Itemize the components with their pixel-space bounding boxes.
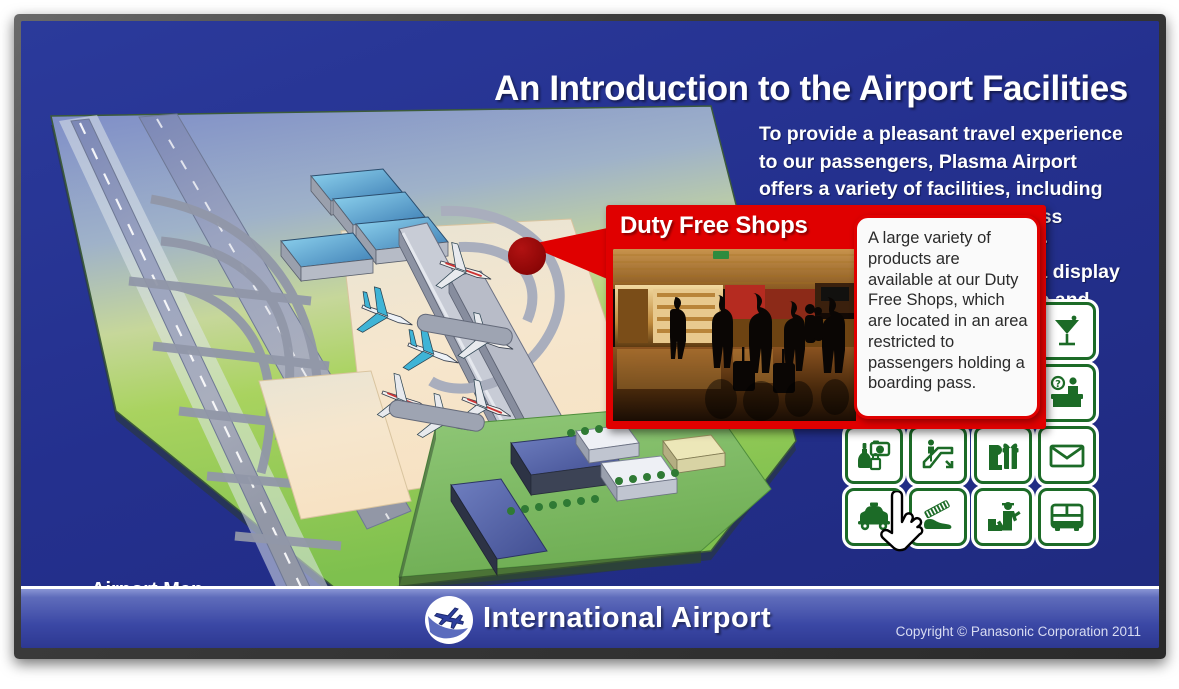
duty-free-popup[interactable]: Duty Free Shops — [606, 205, 1046, 429]
footer-copyright: Copyright © Panasonic Corporation 2011 — [896, 624, 1141, 639]
popup-caption: A large variety of products are availabl… — [854, 215, 1040, 419]
display-bezel: An Introduction to the Airport Facilitie… — [14, 14, 1166, 659]
footer-bar: International Airport Copyright © Panaso… — [21, 586, 1159, 648]
page-title: An Introduction to the Airport Facilitie… — [491, 69, 1131, 109]
immigration-icon[interactable] — [974, 488, 1032, 546]
footer-brand: International Airport — [483, 602, 771, 635]
post-office-icon[interactable] — [1038, 426, 1096, 484]
gift-shop-icon[interactable] — [974, 426, 1032, 484]
escalator-icon[interactable] — [909, 426, 967, 484]
svg-text:?: ? — [1055, 379, 1061, 390]
cocktail-bar-icon[interactable] — [1038, 302, 1096, 360]
popup-title: Duty Free Shops — [620, 212, 808, 240]
duty-free-photo — [613, 249, 856, 421]
information-desk-icon[interactable]: ? — [1038, 364, 1096, 422]
duty-free-location-marker[interactable] — [508, 237, 546, 275]
pointing-hand-cursor — [878, 491, 930, 557]
airport-logo-icon — [421, 594, 477, 646]
duty-free-shop-icon[interactable] — [845, 426, 903, 484]
screen: An Introduction to the Airport Facilitie… — [21, 21, 1159, 648]
bus-icon[interactable] — [1038, 488, 1096, 546]
